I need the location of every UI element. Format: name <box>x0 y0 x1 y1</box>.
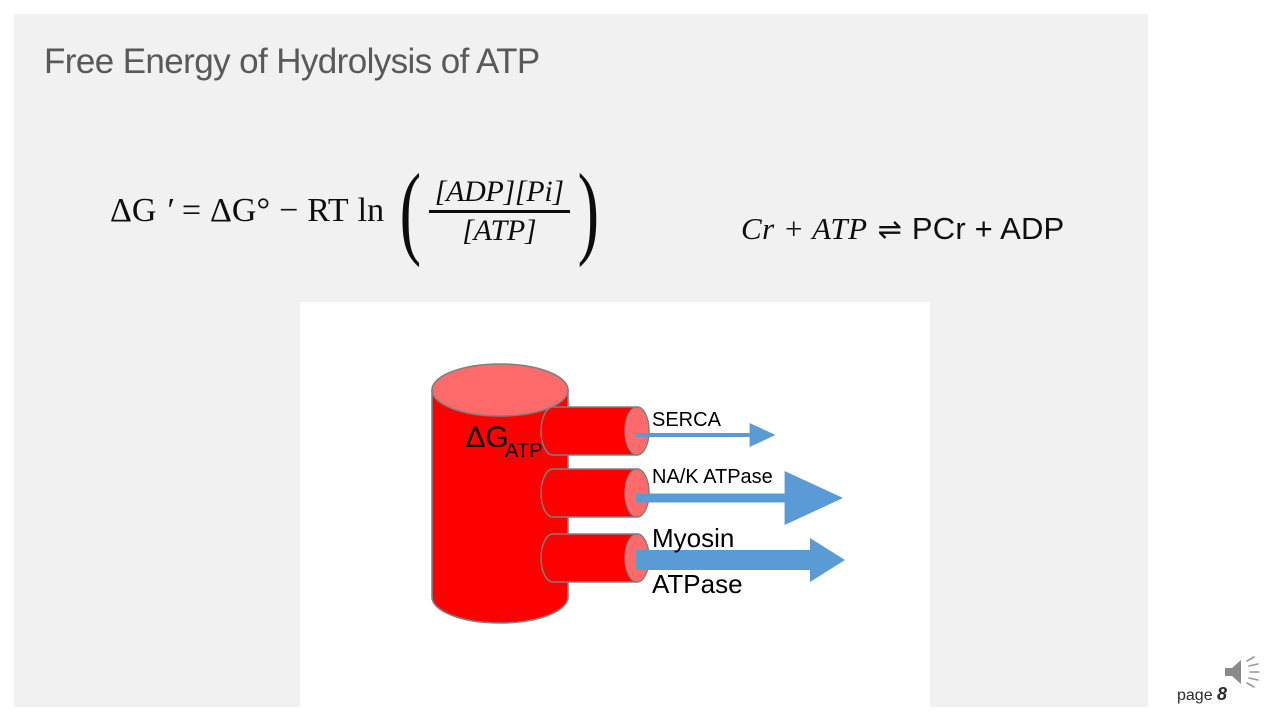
slide-panel: Free Energy of Hydrolysis of ATP ΔG ′ = … <box>14 14 1148 707</box>
equation-standard-term: ΔG° <box>210 192 270 230</box>
pipe-myosin-atpase <box>541 534 649 582</box>
pipe-label-serca: SERCA <box>652 409 722 431</box>
page-title: Free Energy of Hydrolysis of ATP <box>44 42 540 82</box>
page-label: page <box>1177 687 1213 704</box>
pipe-cap-nak <box>625 469 649 517</box>
pipe-nak-atpase <box>541 469 649 517</box>
equation-equals: = <box>182 192 201 230</box>
equation-creatine-kinase: Cr + ATP ⇌ PCr + ADP <box>741 211 1064 247</box>
pipe-cap-serca <box>625 407 649 455</box>
page-indicator: page 8 <box>1177 684 1227 705</box>
pipe-label-myosin: Myosin <box>652 523 734 553</box>
fraction-denominator: [ATP] <box>456 213 542 249</box>
equation-ln: ln <box>358 192 384 230</box>
ck-left-terms: Cr + ATP <box>741 211 868 247</box>
equation-lhs-prime: ′ <box>165 192 172 230</box>
cylinder-top-ellipse <box>432 364 568 416</box>
pipe-label-nak-atpase: NA/K ATPase <box>652 466 773 488</box>
page-number: 8 <box>1217 684 1227 704</box>
equation-rt: RT <box>307 192 348 230</box>
equation-fraction: [ADP][Pi] [ATP] <box>429 174 570 249</box>
reservoir-label-subscript: ATP <box>505 440 542 462</box>
figure-atp-energy-diagram: ΔG ATP SERCA NA/K ATPase <box>300 302 930 720</box>
paren-open: ( <box>400 179 421 243</box>
equation-free-energy: ΔG ′ = ΔG° − RT ln ( [ADP][Pi] [ATP] ) <box>110 174 605 249</box>
equilibrium-arrow-icon: ⇌ <box>878 212 902 246</box>
fraction-numerator: [ADP][Pi] <box>429 174 570 210</box>
reservoir-label: ΔG <box>465 421 508 454</box>
slide-stage: Free Energy of Hydrolysis of ATP ΔG ′ = … <box>0 0 1280 720</box>
pipe-serca <box>541 407 649 455</box>
equation-lhs: ΔG <box>110 192 156 230</box>
ck-right-terms: PCr + ADP <box>912 211 1065 247</box>
paren-close: ) <box>577 179 598 243</box>
equation-minus: − <box>279 192 298 230</box>
pipe-label-atpase: ATPase <box>652 569 743 599</box>
speaker-icon[interactable] <box>1221 655 1267 689</box>
atp-reservoir-svg: ΔG ATP SERCA NA/K ATPase <box>300 302 930 720</box>
